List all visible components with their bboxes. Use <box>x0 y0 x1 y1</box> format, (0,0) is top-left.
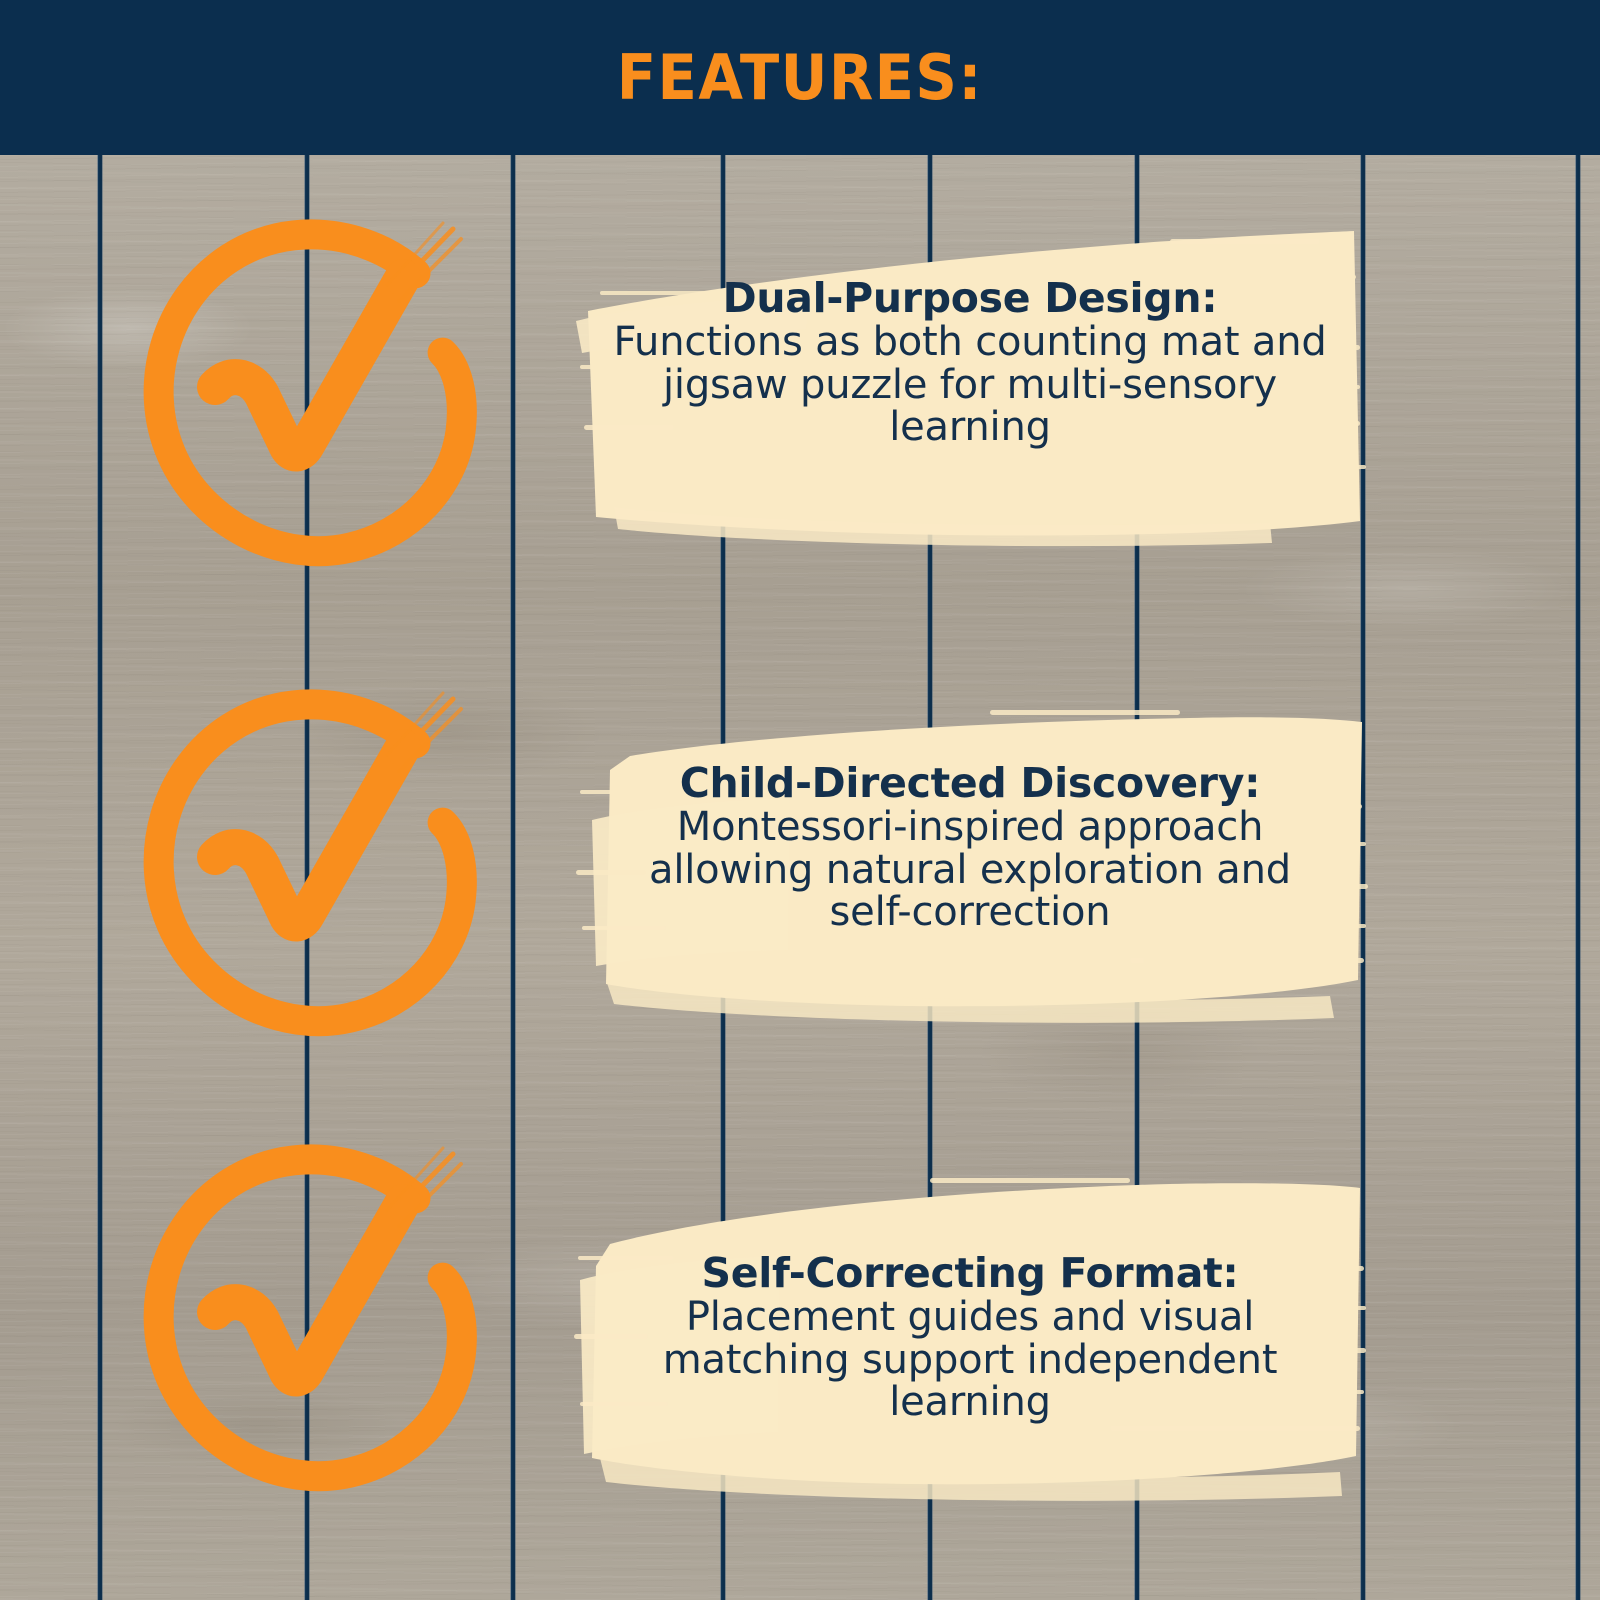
feature-title: Child-Directed Discovery: <box>610 762 1330 806</box>
feature-title: Self-Correcting Format: <box>610 1252 1330 1296</box>
check-circle-icon <box>135 685 495 1045</box>
feature-row-3: Self-Correcting Format: Placement guides… <box>0 1120 1600 1600</box>
page-title: FEATURES: <box>617 47 983 109</box>
check-circle-icon <box>135 215 495 575</box>
feature-banner-2: Child-Directed Discovery: Montessori-ins… <box>570 700 1370 1030</box>
feature-text-3: Self-Correcting Format: Placement guides… <box>570 1252 1370 1424</box>
header-bar: FEATURES: <box>0 0 1600 155</box>
features-infographic: FEATURES: <box>0 0 1600 1600</box>
feature-text-1: Dual-Purpose Design: Functions as both c… <box>570 277 1370 449</box>
feature-banner-3: Self-Correcting Format: Placement guides… <box>570 1170 1370 1510</box>
feature-title: Dual-Purpose Design: <box>610 277 1330 321</box>
feature-text-2: Child-Directed Discovery: Montessori-ins… <box>570 762 1370 934</box>
check-circle-icon <box>135 1140 495 1500</box>
feature-row-1: Dual-Purpose Design: Functions as both c… <box>0 155 1600 635</box>
feature-row-2: Child-Directed Discovery: Montessori-ins… <box>0 640 1600 1120</box>
feature-body: Montessori-inspired approach allowing na… <box>610 806 1330 934</box>
feature-banner-1: Dual-Purpose Design: Functions as both c… <box>570 225 1370 555</box>
feature-body: Functions as both counting mat and jigsa… <box>610 321 1330 449</box>
feature-body: Placement guides and visual matching sup… <box>610 1296 1330 1424</box>
